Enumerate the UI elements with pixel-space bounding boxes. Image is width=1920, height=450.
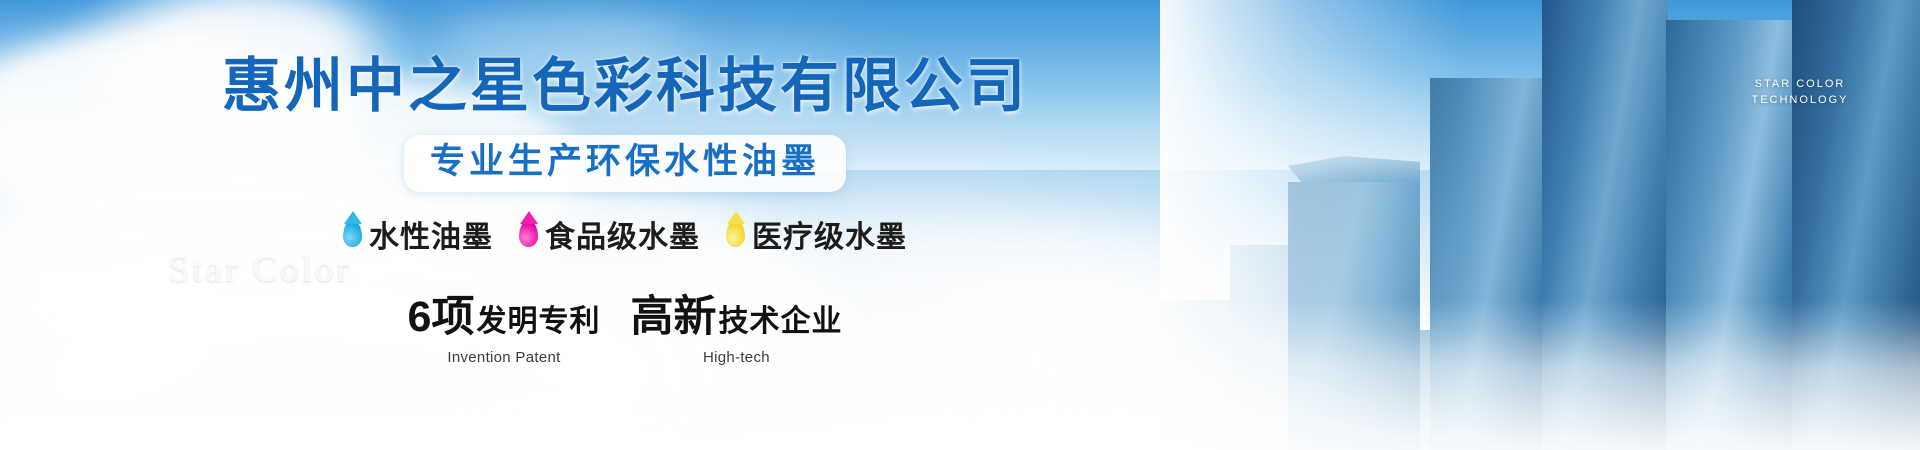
subtitle-pill-text: 专业生产环保水性油墨 [430,142,820,182]
banner-content: 惠州中之星色彩科技有限公司 专业生产环保水性油墨 水性油墨 食品级水墨 医疗级水… [0,0,1250,450]
feature-list: 水性油墨 食品级水墨 医疗级水墨 [343,212,907,256]
water-drop-icon [519,220,538,247]
promo-banner: Star Color STAR COLOR TECHNOLOGY 惠州中之星色彩… [0,0,1920,450]
subtitle-pill: 专业生产环保水性油墨 [404,135,846,192]
corner-brand-line-1: STAR COLOR [1740,76,1860,92]
badge-main-line: 高新 技术企业 [630,282,842,344]
feature-label: 医疗级水墨 [752,212,907,256]
feature-item: 水性油墨 [343,212,493,256]
feature-label: 食品级水墨 [545,212,700,256]
company-headline: 惠州中之星色彩科技有限公司 [222,55,1028,119]
badge-subtext: 技术企业 [718,296,842,340]
badge-highlight: 高新 [630,282,716,344]
badge-english: Invention Patent [447,349,560,366]
badge-subtext: 发明专利 [476,296,600,340]
water-drop-icon [343,220,362,247]
credential-badges: 6项 发明专利 Invention Patent 高新 技术企业 High-te… [408,282,843,366]
badge-english: High-tech [703,349,770,366]
badge-high-tech: 高新 技术企业 High-tech [630,282,842,366]
badge-invention-patent: 6项 发明专利 Invention Patent [408,282,601,366]
feature-item: 食品级水墨 [519,212,700,256]
feature-item: 医疗级水墨 [726,212,907,256]
water-drop-icon [726,220,745,247]
corner-brand-mark: STAR COLOR TECHNOLOGY [1740,76,1860,108]
feature-label: 水性油墨 [369,212,493,256]
corner-brand-line-2: TECHNOLOGY [1740,92,1860,108]
badge-highlight: 6项 [408,282,475,344]
badge-main-line: 6项 发明专利 [408,282,601,344]
